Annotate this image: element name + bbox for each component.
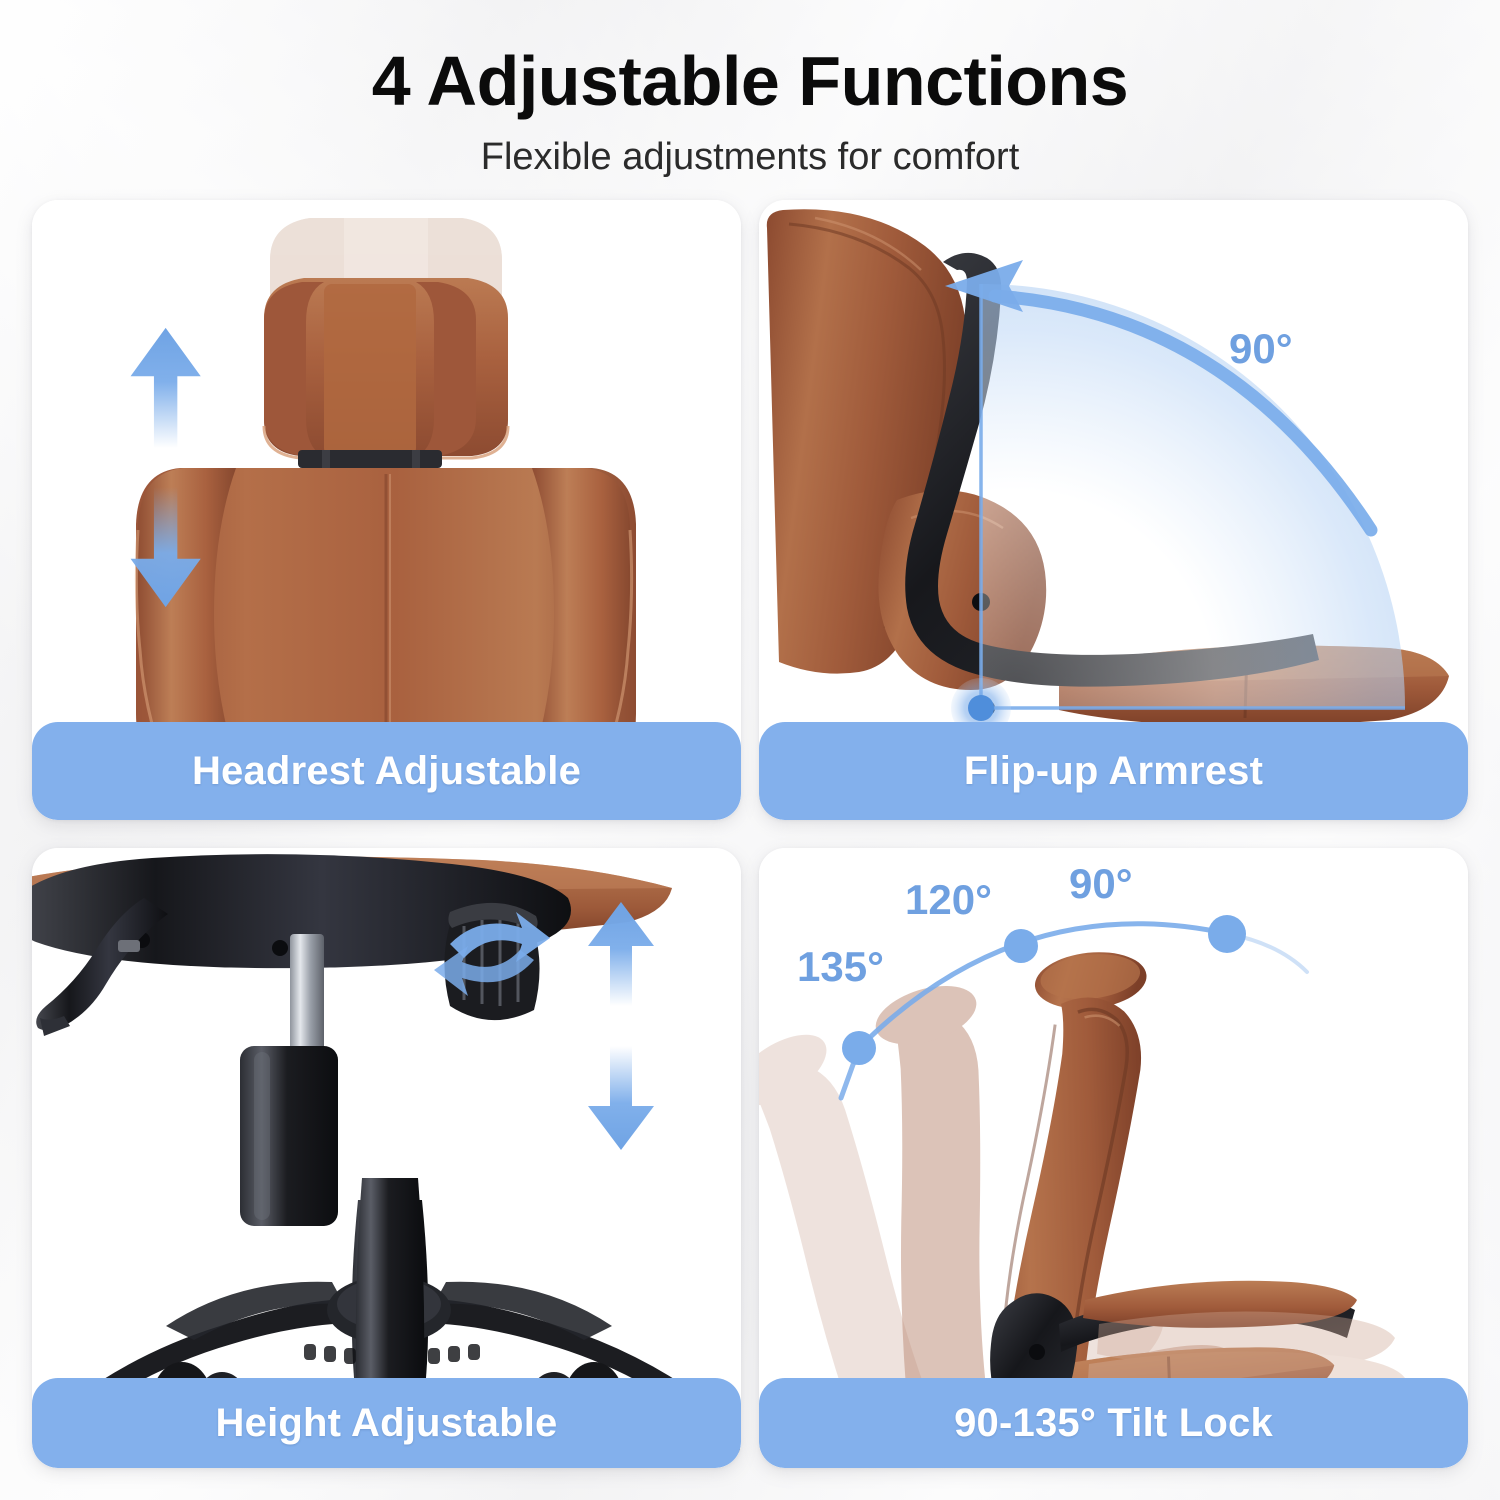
feature-card-armrest[interactable]: 90° Flip-up Armrest: [759, 200, 1468, 820]
card-caption-height: Height Adjustable: [32, 1378, 741, 1468]
infographic-page: 4 Adjustable Functions Flexible adjustme…: [0, 0, 1500, 1500]
card-caption-tilt: 90-135° Tilt Lock: [759, 1378, 1468, 1468]
chrome-piston: [290, 934, 324, 1054]
feature-card-height[interactable]: Height Adjustable: [32, 848, 741, 1468]
page-title: 4 Adjustable Functions: [0, 44, 1500, 120]
height-illustration: [32, 848, 741, 1468]
angle-label-120: 120°: [905, 876, 992, 924]
arc-dot-120: [1004, 929, 1038, 963]
arc-dot-135: [842, 1031, 876, 1065]
headrest-cushion: [264, 278, 508, 468]
angle-label-90: 90°: [1229, 325, 1293, 373]
feature-card-tilt[interactable]: 135° 120° 90° 90-135° Tilt Lock: [759, 848, 1468, 1468]
feature-card-grid: Headrest Adjustable: [32, 200, 1468, 1468]
card-caption-headrest: Headrest Adjustable: [32, 722, 741, 820]
tilt-tension-knob: [434, 903, 550, 1020]
arc-dot-90: [1208, 915, 1246, 953]
tilt-illustration: [759, 848, 1468, 1468]
header: 4 Adjustable Functions Flexible adjustme…: [0, 0, 1500, 179]
angle-label-90: 90°: [1069, 860, 1133, 908]
backrest: [136, 468, 636, 762]
card-caption-armrest: Flip-up Armrest: [759, 722, 1468, 820]
angle-label-135: 135°: [797, 943, 884, 991]
page-subtitle: Flexible adjustments for comfort: [0, 136, 1500, 179]
feature-card-headrest[interactable]: Headrest Adjustable: [32, 200, 741, 820]
